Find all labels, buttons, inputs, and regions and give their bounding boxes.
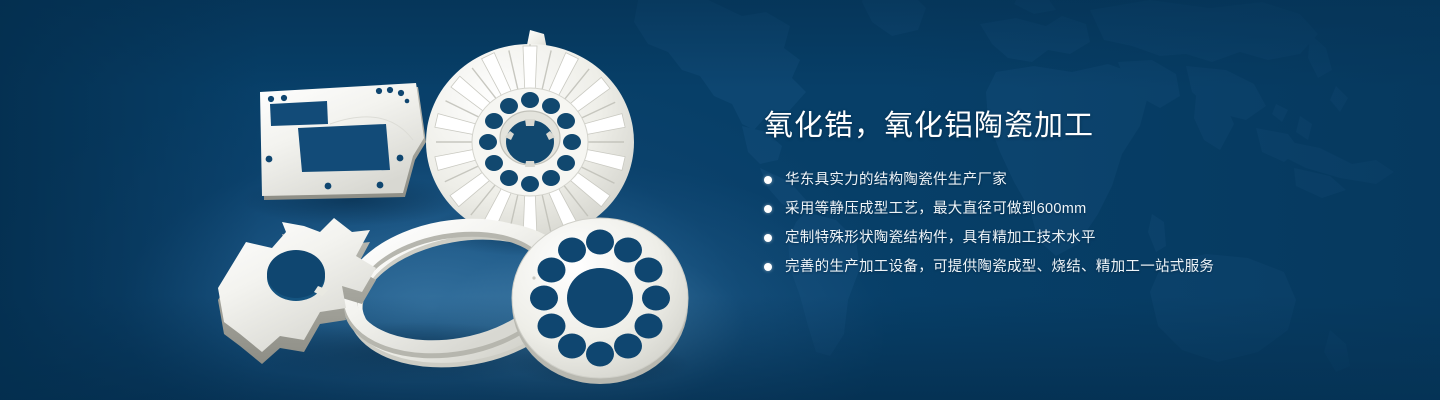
banner-headline: 氧化锆，氧化铝陶瓷加工 [764,106,1384,146]
hero-banner: 氧化锆，氧化铝陶瓷加工 华东具实力的结构陶瓷件生产厂家 采用等静压成型工艺，最大… [0,0,1440,400]
bullet-dot-icon [764,176,772,184]
feature-list: 华东具实力的结构陶瓷件生产厂家 采用等静压成型工艺，最大直径可做到600mm 定… [764,170,1384,277]
banner-copy: 氧化锆，氧化铝陶瓷加工 华东具实力的结构陶瓷件生产厂家 采用等静压成型工艺，最大… [764,106,1384,277]
list-item: 华东具实力的结构陶瓷件生产厂家 [764,170,1384,190]
bullet-dot-icon [764,263,772,271]
list-item: 采用等静压成型工艺，最大直径可做到600mm [764,199,1384,219]
list-item: 完善的生产加工设备，可提供陶瓷成型、烧结、精加工一站式服务 [764,257,1384,277]
bullet-dot-icon [764,205,772,213]
product-image-group [200,0,720,400]
ceramic-perforated-ring-disc [510,218,690,386]
bullet-dot-icon [764,234,772,242]
list-item-label: 定制特殊形状陶瓷结构件，具有精加工技术水平 [785,230,1096,246]
list-item-label: 华东具实力的结构陶瓷件生产厂家 [785,172,1007,188]
list-item-label: 完善的生产加工设备，可提供陶瓷成型、烧结、精加工一站式服务 [785,259,1214,275]
list-item: 定制特殊形状陶瓷结构件，具有精加工技术水平 [764,228,1384,248]
list-item-label: 采用等静压成型工艺，最大直径可做到600mm [785,201,1086,217]
